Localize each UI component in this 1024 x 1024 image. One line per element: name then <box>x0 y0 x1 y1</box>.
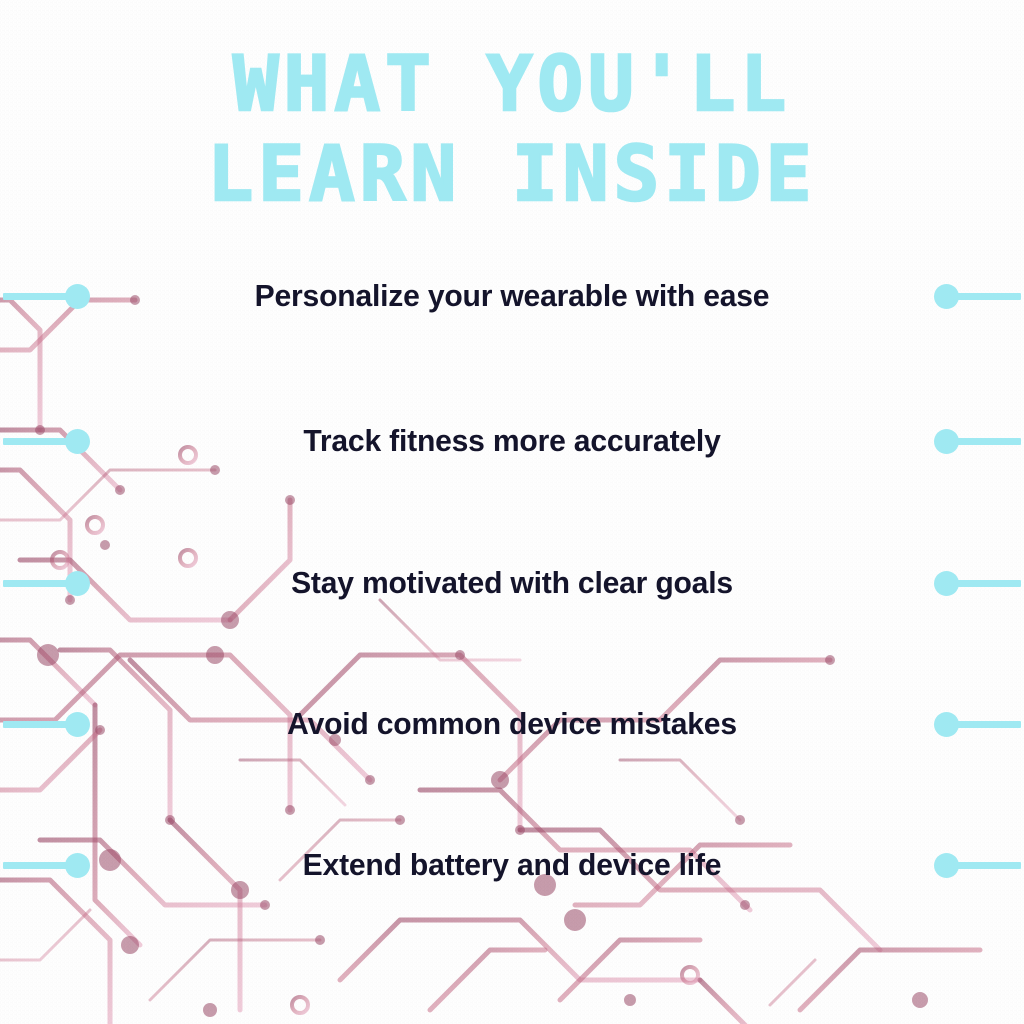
connector-line-icon <box>953 438 1021 445</box>
list-item: Track fitness more accurately <box>0 419 1024 463</box>
connector-line-icon <box>3 721 71 728</box>
connector-line-icon <box>3 438 71 445</box>
connector-left <box>0 429 90 453</box>
title-line-1: WHAT YOU'LL <box>0 46 1024 122</box>
connector-right <box>934 853 1024 877</box>
list-item: Extend battery and device life <box>0 843 1024 887</box>
connector-line-icon <box>953 862 1021 869</box>
connector-right <box>934 284 1024 308</box>
list-item: Personalize your wearable with ease <box>0 274 1024 318</box>
list-item-label: Stay motivated with clear goals <box>103 565 922 601</box>
list-item: Avoid common device mistakes <box>0 702 1024 746</box>
connector-line-icon <box>953 293 1021 300</box>
list-item-label: Track fitness more accurately <box>103 423 922 459</box>
connector-line-icon <box>953 580 1021 587</box>
connector-line-icon <box>3 862 71 869</box>
list-item: Stay motivated with clear goals <box>0 561 1024 605</box>
connector-left <box>0 853 90 877</box>
list-item-label: Personalize your wearable with ease <box>103 278 922 314</box>
connector-dot-icon <box>65 284 90 309</box>
connector-dot-icon <box>65 853 90 878</box>
poster-canvas: WHAT YOU'LL LEARN INSIDE Personalize you… <box>0 0 1024 1024</box>
list-item-label: Avoid common device mistakes <box>103 706 922 742</box>
connector-right <box>934 429 1024 453</box>
connector-left <box>0 712 90 736</box>
connector-line-icon <box>953 721 1021 728</box>
connector-dot-icon <box>65 429 90 454</box>
connector-right <box>934 571 1024 595</box>
connector-dot-icon <box>65 571 90 596</box>
connector-right <box>934 712 1024 736</box>
page-title: WHAT YOU'LL LEARN INSIDE <box>0 46 1024 212</box>
connector-left <box>0 571 90 595</box>
connector-dot-icon <box>65 712 90 737</box>
list-item-label: Extend battery and device life <box>103 847 922 883</box>
title-line-2: LEARN INSIDE <box>0 136 1024 212</box>
connector-left <box>0 284 90 308</box>
connector-line-icon <box>3 580 71 587</box>
connector-line-icon <box>3 293 71 300</box>
